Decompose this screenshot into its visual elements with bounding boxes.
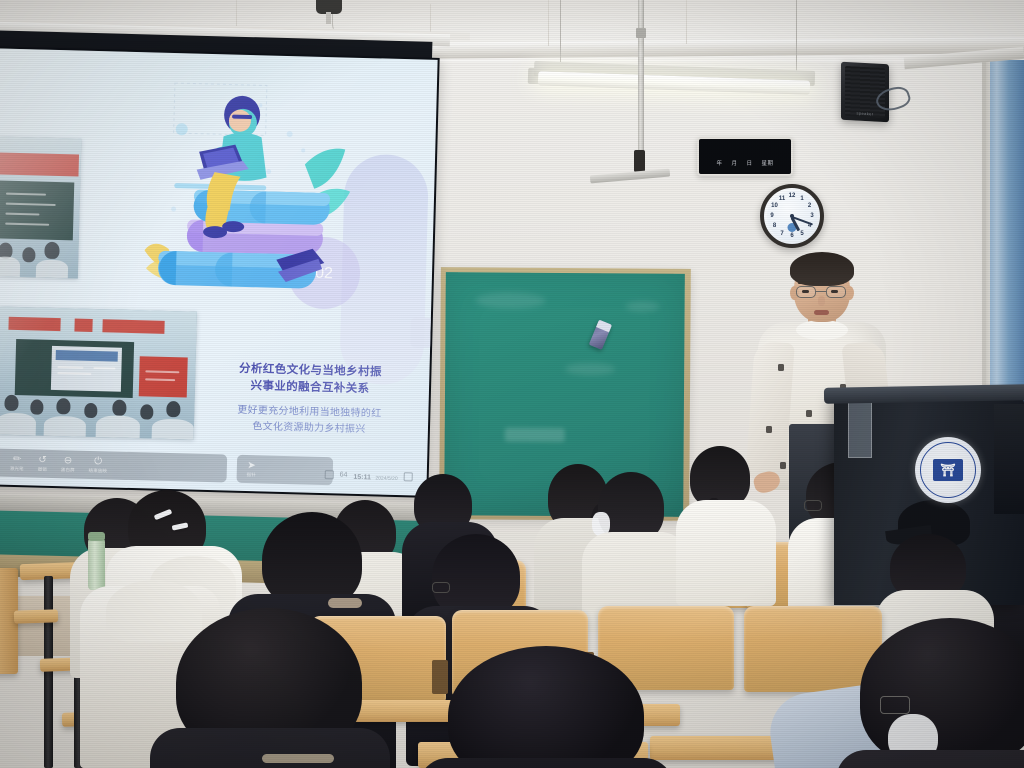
speaker-brand-label: speaker — [856, 111, 873, 117]
student-hair — [860, 618, 1024, 768]
clock-num-8: 8 — [773, 223, 776, 229]
eyeglasses-bridge — [816, 291, 826, 292]
ppt-clock-time: 15:11 — [353, 474, 371, 481]
ppt-tool-blackscreen[interactable]: ⊖ 黑白屏 — [61, 456, 75, 473]
led-label-weekday: 星期 — [762, 159, 774, 167]
wall-clock: 12 1 2 3 4 5 6 7 8 9 10 11 — [760, 184, 824, 248]
lecturer-nose — [818, 296, 825, 306]
slide-surface: 02 — [0, 48, 438, 496]
student-top — [676, 500, 776, 606]
student-top — [418, 758, 674, 768]
slide-title: 分析红色文化与当地乡村振 兴事业的融合互补关系 — [217, 360, 404, 398]
student-top — [836, 750, 1024, 768]
classroom-photo-scene: speaker 年 月 日 星期 12 1 2 3 4 5 6 7 8 9 10… — [0, 0, 1024, 768]
power-icon: ⏻ — [94, 457, 102, 467]
clock-num-2: 2 — [808, 203, 811, 209]
ppt-tool-blackscreen-label: 黑白屏 — [61, 467, 75, 473]
ppt-tool-laser[interactable]: ✏ 激光笔 — [10, 454, 24, 471]
glasses — [432, 582, 450, 593]
laser-icon: ✏ — [13, 454, 22, 464]
screen-pull-rod[interactable] — [638, 0, 644, 168]
slide-illustration: 02 — [134, 72, 371, 338]
chalk-residue — [505, 428, 565, 442]
university-crest: ⛩ — [915, 437, 981, 503]
ppt-tool-end-label: 结束放映 — [89, 467, 108, 473]
desk-tablet — [14, 609, 58, 624]
glasses — [880, 696, 910, 714]
clock-face: 12 1 2 3 4 5 6 7 8 9 10 11 — [767, 191, 817, 241]
clock-num-7: 7 — [780, 231, 783, 237]
glasses — [804, 500, 822, 511]
clock-num-3: 3 — [810, 213, 813, 219]
clock-num-9: 9 — [770, 213, 773, 219]
lecturer-eye-right — [831, 290, 838, 293]
ppt-tool-undo-label: 撤销 — [38, 466, 47, 472]
ppt-tool-end[interactable]: ⏻ 结束放映 — [89, 456, 108, 473]
ppt-tool-laser-label: 激光笔 — [10, 465, 24, 471]
water-bottle[interactable] — [88, 538, 105, 590]
led-date-display: 年 月 日 星期 — [697, 137, 793, 176]
led-label-year: 年 — [716, 159, 722, 167]
slide-photo-top — [0, 136, 81, 278]
comment-icon — [325, 470, 334, 479]
bottle-cap — [88, 532, 105, 541]
lecturer-collar — [796, 320, 848, 340]
podium-monitor — [994, 404, 1024, 514]
clock-center-pin — [790, 214, 794, 218]
ppt-secondary-toolbar[interactable]: ➤ 指针 — [236, 455, 333, 486]
jacket-hood — [106, 580, 202, 642]
clock-num-12: 12 — [789, 193, 796, 199]
rod-handle[interactable] — [634, 150, 645, 172]
light-suspension-wire — [796, 0, 797, 74]
projector-bracket — [326, 12, 331, 24]
podium-acrylic-panel — [848, 400, 872, 458]
slide-count: 64 — [340, 471, 348, 478]
lecturer-ear-right — [845, 286, 854, 300]
slide-subtitle: 更好更充分地利用当地独特的红 色文化资源助力乡村振兴 — [214, 402, 405, 438]
necklace — [328, 598, 362, 608]
ppt-tool-pointer-label: 指针 — [247, 472, 256, 478]
slide-decoration-tab — [410, 317, 433, 348]
led-label-day: 日 — [747, 159, 753, 167]
clock-num-10: 10 — [771, 203, 778, 209]
minus-circle-icon: ⊖ — [64, 456, 73, 466]
crest-glyph: ⛩ — [940, 463, 955, 477]
rod-joint — [636, 28, 646, 38]
desk-post — [44, 576, 53, 768]
lecturer-mouth — [814, 310, 829, 315]
ceiling-seam — [686, 0, 687, 44]
lecturer-hair — [790, 252, 854, 286]
ceiling-seam — [548, 0, 549, 46]
clock-num-6: 6 — [790, 233, 793, 239]
student-hair — [690, 446, 750, 508]
ppt-status-meta: 64 15:11 2024/5/20 — [324, 465, 412, 485]
arrow-icon: ➤ — [247, 461, 256, 471]
ppt-clock-date: 2024/5/20 — [375, 475, 397, 482]
projection-screen[interactable]: 02 — [0, 46, 440, 498]
clock-num-1: 1 — [800, 196, 803, 202]
clock-num-11: 11 — [779, 196, 785, 202]
necklace — [262, 754, 334, 763]
lecturer-eye-left — [802, 290, 809, 293]
ppt-presentation-toolbar[interactable]: ✎ 批注 ✏ 激光笔 ↺ 撤销 ⊖ 黑白屏 ⏻ 结束放映 — [0, 448, 227, 483]
chair-gap — [432, 660, 448, 694]
ppt-tool-pointer[interactable]: ➤ 指针 — [247, 461, 257, 478]
clock-num-5: 5 — [800, 231, 803, 237]
ppt-tool-undo[interactable]: ↺ 撤销 — [38, 455, 48, 472]
led-label-month: 月 — [731, 159, 737, 167]
fullscreen-icon[interactable] — [404, 472, 413, 481]
ppt-clock: 15:11 2024/5/20 — [353, 466, 398, 485]
undo-icon: ↺ — [38, 455, 47, 465]
light-suspension-wire — [560, 0, 561, 64]
blackboard-eraser[interactable] — [589, 320, 612, 350]
